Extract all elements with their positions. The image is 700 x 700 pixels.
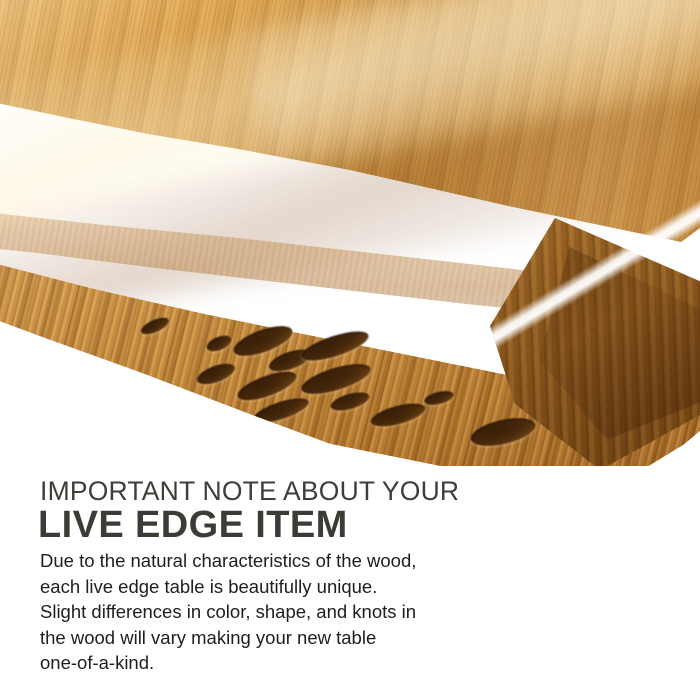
wood-slab	[0, 0, 700, 470]
note-body-copy: Due to the natural characteristics of th…	[40, 548, 440, 676]
note-body-line: Due to the natural characteristics of th…	[40, 548, 440, 574]
note-kicker: IMPORTANT NOTE ABOUT YOUR	[40, 476, 459, 507]
wood-edge-highlight-line	[451, 194, 700, 369]
note-headline: LIVE EDGE ITEM	[38, 504, 348, 547]
note-body-line: one-of-a-kind.	[40, 650, 440, 676]
product-photo	[0, 0, 700, 470]
product-info-card: IMPORTANT NOTE ABOUT YOUR LIVE EDGE ITEM…	[0, 0, 700, 700]
note-text-block: IMPORTANT NOTE ABOUT YOUR LIVE EDGE ITEM…	[0, 470, 700, 700]
note-body-line: Slight differences in color, shape, and …	[40, 599, 440, 625]
note-body-line: each live edge table is beautifully uniq…	[40, 574, 440, 600]
note-body-line: the wood will vary making your new table	[40, 625, 440, 651]
